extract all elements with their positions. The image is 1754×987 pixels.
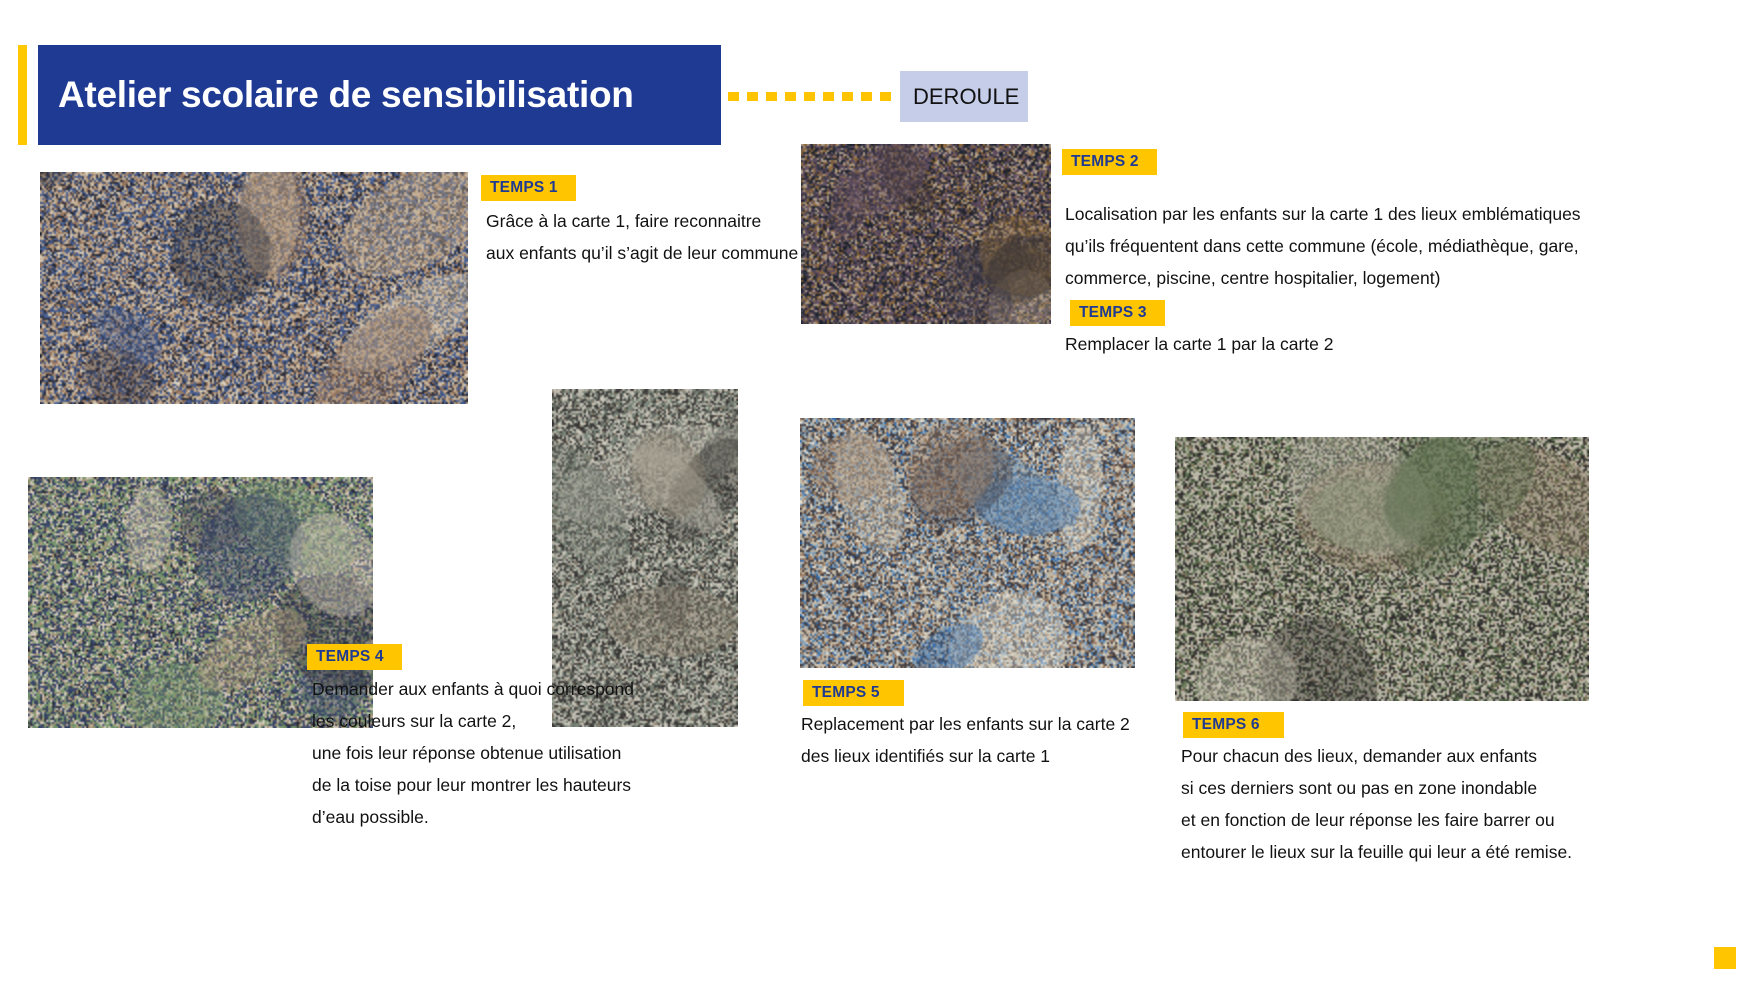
temps-1-line-1: Grâce à la carte 1, faire reconnaitre [486,205,798,237]
temps-5-line-2: des lieux identifiés sur la carte 1 [801,740,1130,772]
temps-2-badge: TEMPS 2 [1062,149,1157,175]
corner-accent-dot [1714,947,1736,969]
temps-2-line-1: Localisation par les enfants sur la cart… [1065,198,1581,230]
temps-6-line-1: Pour chacun des lieux, demander aux enfa… [1181,740,1572,772]
photo-classroom-table-map [40,172,468,404]
temps-2-line-3: commerce, piscine, centre hospitalier, l… [1065,262,1581,294]
temps-4-label: TEMPS 4 [316,648,384,666]
temps-3-label: TEMPS 3 [1079,304,1147,322]
temps-1-label: TEMPS 1 [490,179,558,197]
page-title-banner: Atelier scolaire de sensibilisation [38,45,721,145]
temps-5-line-1: Replacement par les enfants sur la carte… [801,708,1130,740]
page-title: Atelier scolaire de sensibilisation [58,74,634,116]
temps-4-description: Demander aux enfants à quoi correspond l… [312,673,634,833]
temps-4-line-5: d’eau possible. [312,801,634,833]
temps-4-line-1: Demander aux enfants à quoi correspond [312,673,634,705]
photo-placing-markers [800,418,1135,668]
deroule-badge: DEROULE [900,71,1028,122]
temps-3-badge: TEMPS 3 [1070,300,1165,326]
deroule-label: DEROULE [913,84,1019,110]
temps-2-label: TEMPS 2 [1071,153,1139,171]
temps-6-line-2: si ces derniers sont ou pas en zone inon… [1181,772,1572,804]
temps-4-badge: TEMPS 4 [307,644,402,670]
temps-4-line-2: les couleurs sur la carte 2, [312,705,634,737]
temps-5-label: TEMPS 5 [812,684,880,702]
temps-6-line-3: et en fonction de leur réponse les faire… [1181,804,1572,836]
title-accent-bar [18,45,27,145]
temps-1-description: Grâce à la carte 1, faire reconnaitre au… [486,205,798,269]
temps-3-line-1: Remplacer la carte 1 par la carte 2 [1065,328,1333,360]
temps-1-badge: TEMPS 1 [481,175,576,201]
dotted-connector [728,92,898,101]
temps-5-badge: TEMPS 5 [803,680,904,706]
temps-4-line-3: une fois leur réponse obtenue utilisatio… [312,737,634,769]
temps-2-line-2: qu’ils fréquentent dans cette commune (é… [1065,230,1581,262]
temps-3-description: Remplacer la carte 1 par la carte 2 [1065,328,1333,360]
temps-4-line-4: de la toise pour leur montrer les hauteu… [312,769,634,801]
temps-6-label: TEMPS 6 [1192,716,1260,734]
temps-5-description: Replacement par les enfants sur la carte… [801,708,1130,772]
temps-6-line-4: entourer le lieux sur la feuille qui leu… [1181,836,1572,868]
temps-2-description: Localisation par les enfants sur la cart… [1065,198,1581,294]
temps-6-description: Pour chacun des lieux, demander aux enfa… [1181,740,1572,868]
temps-1-line-2: aux enfants qu’il s’agit de leur commune [486,237,798,269]
photo-children-pointing-map [801,144,1051,324]
temps-6-badge: TEMPS 6 [1183,712,1284,738]
photo-worksheet-marking [1175,437,1589,701]
